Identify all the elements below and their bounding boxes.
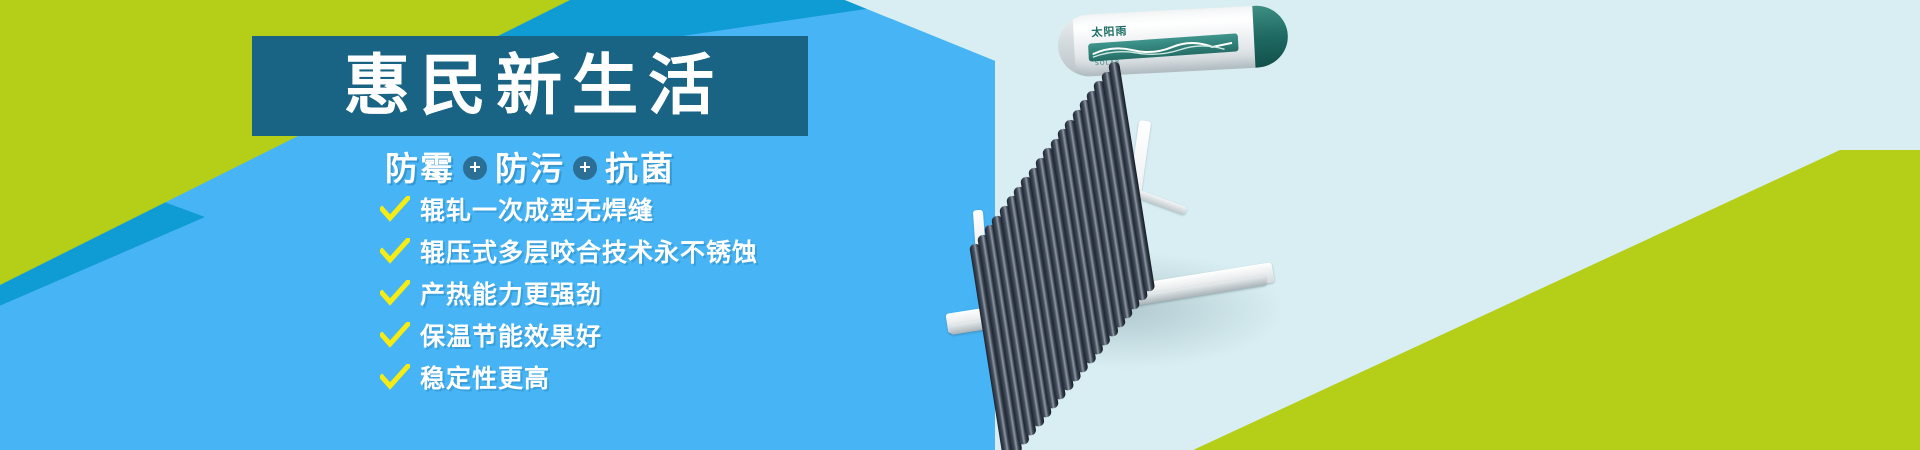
subtitle-row: 防霉 防污 抗菌 [252, 142, 808, 190]
list-item: 产热能力更强劲 [380, 276, 758, 309]
feature-label: 稳定性更高 [420, 359, 550, 395]
list-item: 辊压式多层咬合技术永不锈蚀 [380, 234, 758, 267]
list-item: 保温节能效果好 [380, 318, 758, 351]
list-item: 辊轧一次成型无焊缝 [380, 192, 758, 225]
subtitle-word-1: 防霉 [385, 142, 455, 190]
subtitle-word-2: 防污 [495, 142, 565, 190]
check-icon [380, 364, 410, 390]
banner-content: 惠民新生活 防霉 防污 抗菌 [0, 0, 1010, 450]
feature-label: 辊轧一次成型无焊缝 [420, 191, 654, 227]
check-icon [380, 238, 410, 264]
feature-label: 保温节能效果好 [420, 317, 602, 353]
promo-banner: 惠民新生活 防霉 防污 抗菌 [0, 0, 1920, 450]
check-icon [380, 322, 410, 348]
subtitle-word-3: 抗菌 [605, 142, 675, 190]
list-item: 稳定性更高 [380, 360, 758, 393]
feature-label: 辊压式多层咬合技术永不锈蚀 [420, 233, 758, 269]
banner-title: 惠民新生活 [336, 53, 724, 119]
plus-icon [573, 156, 597, 180]
product-image-solar-water-heater: 太阳雨 SOLAR [940, 0, 1360, 400]
check-icon [380, 280, 410, 306]
feature-label: 产热能力更强劲 [420, 275, 602, 311]
tank-brand-text: 太阳雨 [1091, 22, 1128, 40]
title-box: 惠民新生活 [252, 36, 808, 136]
feature-list: 辊轧一次成型无焊缝 辊压式多层咬合技术永不锈蚀 产热能力更强劲 [380, 192, 758, 402]
water-tank: 太阳雨 SOLAR [1057, 4, 1290, 78]
check-icon [380, 196, 410, 222]
plus-icon [463, 156, 487, 180]
tank-end-right [1252, 4, 1289, 68]
